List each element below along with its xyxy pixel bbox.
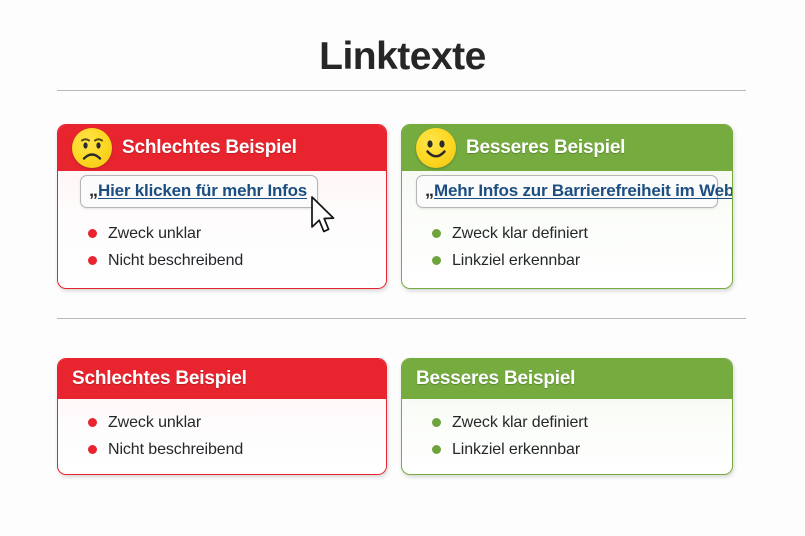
list-item: Zweck klar definiert: [432, 222, 588, 245]
list-item-label: Nicht beschreibend: [108, 252, 243, 270]
card-header: Schlechtes Beispiel: [58, 125, 386, 171]
card-header: Besseres Beispiel: [402, 359, 732, 399]
bullet-dot-icon: [432, 256, 441, 265]
card-good-example-with-link: Besseres Beispiel „ Mehr Infos zur Barri…: [401, 124, 733, 289]
link-chip-good[interactable]: „ Mehr Infos zur Barrierefreiheit im Web: [416, 175, 718, 208]
smiley-face-icon: [416, 128, 456, 168]
card-title: Schlechtes Beispiel: [72, 368, 247, 390]
card-bad-example-plain: Schlechtes Beispiel Zweck unklar Nicht b…: [57, 358, 387, 475]
list-item-label: Zweck unklar: [108, 414, 201, 432]
list-item: Zweck unklar: [88, 411, 243, 434]
card-header: Schlechtes Beispiel: [58, 359, 386, 399]
bullet-dot-icon: [88, 229, 97, 238]
card-title: Schlechtes Beispiel: [122, 137, 297, 159]
list-item: Zweck klar definiert: [432, 411, 588, 434]
list-item-label: Nicht beschreibend: [108, 441, 243, 459]
list-item: Linkziel erkennbar: [432, 438, 588, 461]
bullet-list: Zweck klar definiert Linkziel erkennbar: [432, 222, 588, 276]
page-title: Linktexte: [0, 36, 805, 79]
divider-top: [57, 90, 746, 91]
bullet-list: Zweck klar definiert Linkziel erkennbar: [432, 411, 588, 465]
card-good-example-plain: Besseres Beispiel Zweck klar definiert L…: [401, 358, 733, 475]
bullet-list: Zweck unklar Nicht beschreibend: [88, 222, 243, 276]
bullet-list: Zweck unklar Nicht beschreibend: [88, 411, 243, 465]
list-item-label: Zweck unklar: [108, 225, 201, 243]
card-header: Besseres Beispiel: [402, 125, 732, 171]
card-title: Besseres Beispiel: [416, 368, 575, 390]
link-label[interactable]: Mehr Infos zur Barrierefreiheit im Web: [434, 181, 733, 201]
list-item: Zweck unklar: [88, 222, 243, 245]
list-item-label: Zweck klar definiert: [452, 414, 588, 432]
card-bad-example-with-link: Schlechtes Beispiel „ Hier klicken für m…: [57, 124, 387, 289]
bullet-dot-icon: [432, 445, 441, 454]
link-label[interactable]: Hier klicken für mehr Infos: [98, 181, 307, 201]
bullet-dot-icon: [432, 418, 441, 427]
link-chip-bad[interactable]: „ Hier klicken für mehr Infos: [80, 175, 318, 208]
bullet-dot-icon: [88, 445, 97, 454]
quote-mark: „: [425, 181, 434, 199]
list-item: Nicht beschreibend: [88, 249, 243, 272]
page-root: Linktexte Schlechtes Beispiel „ Hier kli…: [0, 0, 805, 536]
list-item: Nicht beschreibend: [88, 438, 243, 461]
bullet-dot-icon: [88, 256, 97, 265]
quote-mark: „: [89, 181, 98, 199]
divider-middle: [57, 318, 746, 319]
bullet-dot-icon: [88, 418, 97, 427]
list-item-label: Zweck klar definiert: [452, 225, 588, 243]
list-item: Linkziel erkennbar: [432, 249, 588, 272]
list-item-label: Linkziel erkennbar: [452, 252, 580, 270]
card-title: Besseres Beispiel: [466, 137, 625, 159]
sad-face-icon: [72, 128, 112, 168]
list-item-label: Linkziel erkennbar: [452, 441, 580, 459]
bullet-dot-icon: [432, 229, 441, 238]
